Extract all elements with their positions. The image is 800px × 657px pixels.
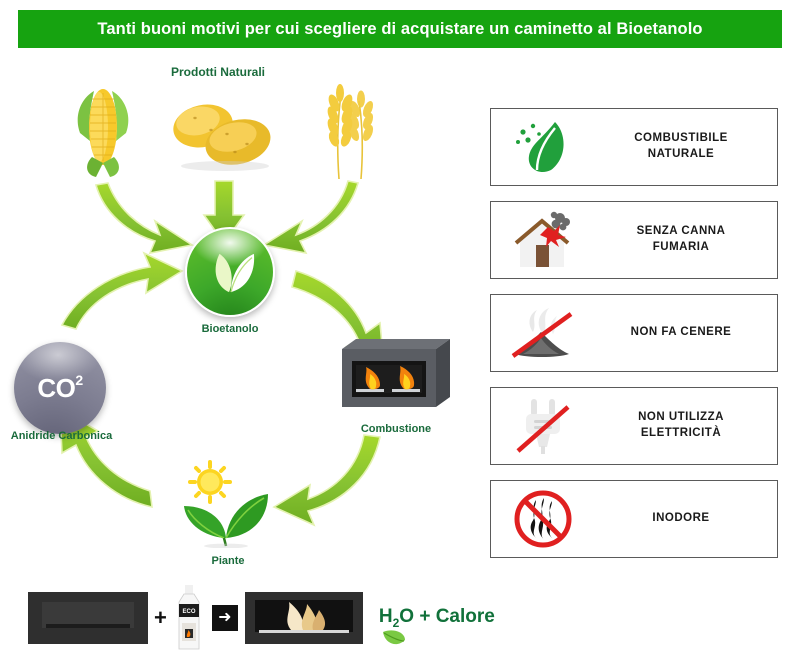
feature-label-line2: FUMARIA [595,240,767,256]
feature-label-line2: ELETTRICITÀ [595,426,767,442]
feature-card-senza-canna-fumaria[interactable]: SENZA CANNA FUMARIA [490,201,778,279]
equation-result: H2O + Calore [379,606,495,630]
co2-node: CO2 [14,342,106,434]
feature-label-line1: COMBUSTIBILE [595,131,767,147]
label-bioetanolo: Bioetanolo [175,323,285,335]
feature-card-non-fa-cenere[interactable]: NON FA CENERE [490,294,778,372]
header-banner: Tanti buoni motivi per cui scegliere di … [18,10,782,48]
co2-symbol: CO2 [14,342,106,434]
unlit-burner-icon [28,592,148,644]
feature-label-line1: NON FA CENERE [595,325,767,341]
no-ash-icon [491,295,595,371]
feature-card-inodore[interactable]: INODORE [490,480,778,558]
feature-label: COMBUSTIBILE NATURALE [595,131,777,162]
feature-label-line1: INODORE [595,511,767,527]
co2-sphere-icon: CO2 [14,342,106,434]
arrow-combustione-to-piante [274,435,380,525]
arrow-corn-to-center [96,183,192,253]
feature-list: COMBUSTIBILE NATURALE SENZA CANNA FUMARI… [490,108,778,573]
house-no-chimney-icon [491,202,595,278]
no-smell-icon [491,481,595,557]
green-leaf-icon [491,109,595,185]
feature-label: INODORE [595,511,777,527]
feature-label-line2: NATURALE [595,147,767,163]
bioethanol-cycle-diagram: Prodotti Naturali [0,55,480,575]
small-leaf-icon [381,628,407,648]
feature-label-line1: SENZA CANNA [595,224,767,240]
green-leaf-sphere-icon [185,227,275,317]
label-anidride-carbonica: Anidride Carbonica [4,430,119,442]
plus-sign: + [154,605,167,631]
arrow-right-icon: ➜ [212,605,238,631]
potatoes-icon [165,100,275,172]
result-label: H2O + Calore [379,606,495,630]
feature-label-line1: NON UTILIZZA [595,410,767,426]
label-prodotti-naturali: Prodotti Naturali [118,65,318,79]
lit-fireplace-icon [245,592,363,644]
bioetanolo-node [185,227,275,317]
arrow-wheat-to-center [264,181,358,253]
no-plug-icon [491,388,595,464]
equation-strip: + ECO ➜ H2O + Calore [28,583,488,653]
corn-icon [72,83,134,178]
ecoflame-bottle-icon: ECO [173,585,205,651]
svg-text:ECO: ECO [182,609,195,615]
feature-card-combustibile-naturale[interactable]: COMBUSTIBILE NATURALE [490,108,778,186]
arrow-co2-to-bioetanolo [62,253,182,329]
label-combustione: Combustione [342,423,450,435]
fireplace-flames-icon [342,335,450,407]
feature-label: NON FA CENERE [595,325,777,341]
feature-label: NON UTILIZZA ELETTRICITÀ [595,410,777,441]
feature-label: SENZA CANNA FUMARIA [595,224,777,255]
label-piante: Piante [178,555,278,567]
feature-card-non-utilizza-elettricita[interactable]: NON UTILIZZA ELETTRICITÀ [490,387,778,465]
wheat-icon [315,81,385,181]
page-title: Tanti buoni motivi per cui scegliere di … [97,20,702,39]
sun-leaves-icon [168,460,286,548]
